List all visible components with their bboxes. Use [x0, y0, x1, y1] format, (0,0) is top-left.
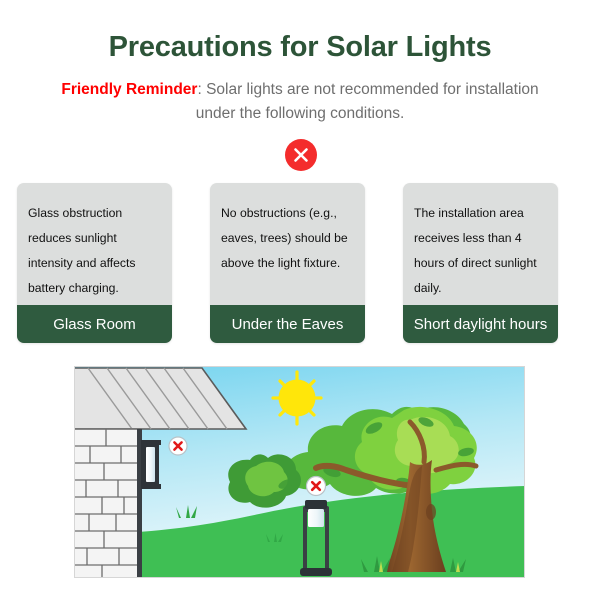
sun — [273, 372, 321, 424]
page-title: Precautions for Solar Lights — [0, 30, 600, 65]
card-label-short-daylight-hours: Short daylight hours — [403, 305, 558, 343]
card-body-text: No obstructions (e.g., eaves, trees) sho… — [210, 183, 365, 305]
subtitle-rest: : Solar lights are not recommended for i… — [196, 81, 539, 122]
stone-wall — [74, 429, 142, 578]
scene-illustration — [74, 366, 525, 578]
tree-trunk-knot — [426, 504, 436, 520]
wall-light-fixture — [141, 440, 161, 489]
card-label-under-the-eaves: Under the Eaves — [210, 305, 365, 343]
card-body-text: The installation area receives less than… — [403, 183, 558, 305]
card-label-glass-room: Glass Room — [17, 305, 172, 343]
wall-light-x-badge — [169, 437, 187, 455]
precaution-card-under-the-eaves: No obstructions (e.g., eaves, trees) sho… — [210, 183, 365, 343]
bollard-light-x-badge — [307, 477, 326, 496]
card-body-text: Glass obstruction reduces sunlight inten… — [17, 183, 172, 305]
subtitle: Friendly Reminder: Solar lights are not … — [50, 78, 550, 126]
precaution-card-short-daylight-hours: The installation area receives less than… — [403, 183, 558, 343]
x-circle-icon — [285, 139, 317, 171]
precaution-card-glass-room: Glass obstruction reduces sunlight inten… — [17, 183, 172, 343]
subtitle-emphasis: Friendly Reminder — [61, 81, 197, 98]
bollard-light — [300, 500, 332, 576]
